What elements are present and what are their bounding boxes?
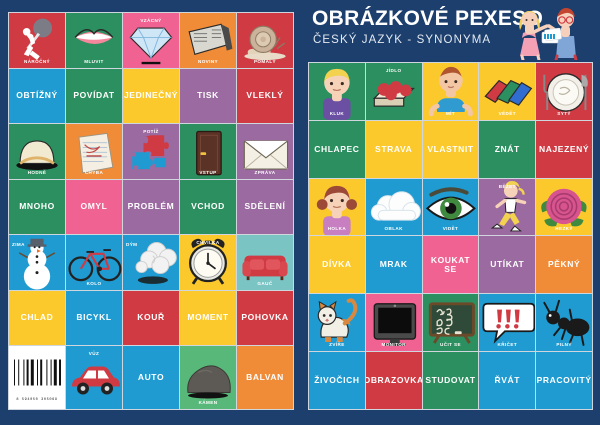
picture-card-label: MLUVIT [66, 59, 122, 64]
word-card[interactable]: OBRAZOVKA [366, 352, 422, 409]
picture-card-label: VIDĚT [423, 226, 479, 231]
picture-card[interactable]: VŮZ [66, 346, 122, 409]
word-card[interactable]: AUTO [123, 346, 179, 409]
picture-card[interactable]: POMALÝ [237, 13, 293, 68]
word-card-label: ZNÁT [493, 145, 522, 154]
picture-card-label: JÍDLO [366, 68, 422, 73]
picture-card[interactable]: BĚŽET [479, 179, 535, 236]
word-card[interactable]: KOUŘ [123, 291, 179, 346]
picture-card[interactable]: KÁMEN [180, 346, 236, 409]
word-card[interactable]: STUDOVAT [423, 352, 479, 409]
picture-card[interactable]: UČIT SE [423, 294, 479, 351]
picture-card[interactable]: VĚDĚT [479, 63, 535, 120]
word-card[interactable]: KOUKAT SE [423, 236, 479, 293]
picture-card-label: KLUK [309, 111, 365, 116]
word-card[interactable]: SDĚLENÍ [237, 180, 293, 235]
pexeso-board-left: NÁROČNÝMLUVITVZÁCNÝNOVINYPOMALÝOBTÍŽNÝPO… [8, 12, 294, 410]
word-card-label: KOUKAT SE [423, 256, 479, 275]
picture-card[interactable]: ZVÍŘE [309, 294, 365, 351]
picture-card[interactable]: VSTUP [180, 124, 236, 179]
picture-card-label: VĚDĚT [479, 111, 535, 116]
pexeso-board-right: KLUKJÍDLOMÍTVĚDĚTSYTÝCHLAPECSTRAVAVLASTN… [308, 62, 593, 410]
picture-card[interactable]: HODNĚ [9, 124, 65, 179]
picture-card-label: HODNĚ [9, 170, 65, 175]
word-card-label: VLEKLÝ [244, 91, 285, 100]
word-card-label: CHLAPEC [312, 145, 361, 154]
word-card[interactable]: OBTÍŽNÝ [9, 69, 65, 124]
word-card[interactable]: MRAK [366, 236, 422, 293]
word-card[interactable]: MNOHO [9, 180, 65, 235]
word-card-label: PRACOVITÝ [536, 376, 592, 385]
picture-card-label: VZÁCNÝ [123, 18, 179, 23]
picture-card-label: HEZKÝ [536, 226, 592, 231]
picture-card[interactable]: DÝM [123, 235, 179, 290]
word-card-label: POVÍDAT [71, 91, 116, 100]
word-card-label: UTÍKAT [488, 260, 526, 269]
picture-card[interactable]: POTÍŽ [123, 124, 179, 179]
picture-card-label: PILNÝ [536, 342, 592, 347]
word-card[interactable]: STRAVA [366, 121, 422, 178]
page-subtitle: ČESKÝ JAZYK - SYNONYMA [313, 34, 491, 46]
word-card-label: AUTO [136, 373, 166, 382]
word-card-label: CHLAD [19, 313, 56, 322]
word-card-label: MOMENT [185, 313, 230, 322]
word-card-label: SDĚLENÍ [242, 202, 287, 211]
poster-header: OBRÁZKOVÉ PEXESO ČESKÝ JAZYK - SYNONYMA [308, 0, 600, 60]
picture-card[interactable]: GAUČ [237, 235, 293, 290]
picture-card[interactable]: KOLO [66, 235, 122, 290]
word-card[interactable]: MOMENT [180, 291, 236, 346]
word-card[interactable]: NAJEZENÝ [536, 121, 592, 178]
word-card[interactable]: ZNÁT [479, 121, 535, 178]
word-card-label: STRAVA [373, 145, 414, 154]
word-card[interactable]: DÍVKA [309, 236, 365, 293]
word-card-label: ŘVÁT [493, 376, 523, 385]
picture-card-label: POTÍŽ [123, 129, 179, 134]
word-card-label: VLASTNIT [425, 145, 475, 154]
word-card[interactable]: BALVAN [237, 346, 293, 409]
word-card[interactable]: VLEKLÝ [237, 69, 293, 124]
poster-page: OBRÁZKOVÉ PEXESO ČESKÝ JAZYK - SYNONYMA [0, 0, 600, 425]
kids-pair-icon [498, 2, 594, 60]
picture-card[interactable]: OBLAK [366, 179, 422, 236]
word-card[interactable]: CHLAPEC [309, 121, 365, 178]
word-card-label: DÍVKA [320, 260, 353, 269]
picture-card-label: ZIMA [12, 242, 25, 247]
picture-card[interactable]: KŘIČET [479, 294, 535, 351]
word-card[interactable]: VCHOD [180, 180, 236, 235]
picture-card[interactable]: CHVILKA [180, 235, 236, 290]
word-card-label: NAJEZENÝ [537, 145, 591, 154]
barcode-icon [13, 359, 61, 390]
picture-card[interactable]: VIDĚT [423, 179, 479, 236]
word-card-label: BICYKL [74, 313, 113, 322]
word-card-label: TISK [195, 91, 221, 100]
picture-card-label: BĚŽET [479, 184, 535, 189]
word-card-label: OBTÍŽNÝ [14, 91, 60, 100]
word-card[interactable]: POHOVKA [237, 291, 293, 346]
word-card-label: VCHOD [189, 202, 227, 211]
picture-card-label: KÁMEN [180, 400, 236, 405]
picture-card[interactable]: VZÁCNÝ [123, 13, 179, 68]
picture-card[interactable]: ZIMA [9, 235, 65, 290]
word-card[interactable]: CHLAD [9, 291, 65, 346]
word-card[interactable]: VLASTNIT [423, 121, 479, 178]
word-card-label: POHOVKA [239, 313, 290, 322]
word-card[interactable]: OMYL [66, 180, 122, 235]
picture-card-label: NÁROČNÝ [9, 59, 65, 64]
word-card[interactable]: TISK [180, 69, 236, 124]
picture-card[interactable]: NÁROČNÝ [9, 13, 65, 68]
word-card-label: PROBLÉM [126, 202, 177, 211]
picture-card[interactable]: PILNÝ [536, 294, 592, 351]
picture-card-label: ZPRÁVA [237, 170, 293, 175]
picture-card-label: CHYBA [66, 170, 122, 175]
picture-card-label: POMALÝ [237, 59, 293, 64]
word-card[interactable]: ŘVÁT [479, 352, 535, 409]
picture-card[interactable]: NOVINY [180, 13, 236, 68]
picture-card-label: DÝM [126, 242, 137, 247]
picture-card[interactable]: CHYBA [66, 124, 122, 179]
picture-card-label: HOLKA [309, 226, 365, 231]
picture-card[interactable]: JÍDLO [366, 63, 422, 120]
word-card[interactable]: PĚKNÝ [536, 236, 592, 293]
picture-card[interactable]: MONITOR [366, 294, 422, 351]
word-card[interactable]: ŽIVOČICH [309, 352, 365, 409]
barcode-cell[interactable]: 8 594050 305069 [9, 346, 65, 409]
word-card[interactable]: BICYKL [66, 291, 122, 346]
picture-card[interactable]: HOLKA [309, 179, 365, 236]
word-card-label: KOUŘ [135, 313, 166, 322]
word-card[interactable]: PROBLÉM [123, 180, 179, 235]
word-card[interactable]: JEDINEČNÝ [123, 69, 179, 124]
picture-card-label: KOLO [66, 281, 122, 286]
word-card-label: ŽIVOČICH [312, 376, 361, 385]
word-card[interactable]: PRACOVITÝ [536, 352, 592, 409]
word-card[interactable]: UTÍKAT [479, 236, 535, 293]
barcode-number: 8 594050 305069 [9, 398, 65, 402]
word-card-label: JEDINEČNÝ [123, 91, 179, 100]
word-card-label: OMYL [79, 202, 110, 211]
word-card-label: BALVAN [244, 373, 286, 382]
picture-card-label: SYTÝ [536, 111, 592, 116]
picture-card-label: KŘIČET [479, 342, 535, 347]
picture-card[interactable]: SYTÝ [536, 63, 592, 120]
picture-card[interactable]: MÍT [423, 63, 479, 120]
picture-card-label: VSTUP [180, 170, 236, 175]
word-card-label: OBRAZOVKA [366, 376, 422, 385]
picture-card-label: UČIT SE [423, 342, 479, 347]
picture-card-label: ZVÍŘE [309, 342, 365, 347]
word-card-label: MNOHO [17, 202, 57, 211]
word-card-label: PĚKNÝ [546, 260, 582, 269]
picture-card-label: GAUČ [237, 281, 293, 286]
picture-card-label: CHVILKA [180, 240, 236, 245]
word-card[interactable]: POVÍDAT [66, 69, 122, 124]
picture-card-label: NOVINY [180, 59, 236, 64]
picture-card-label: OBLAK [366, 226, 422, 231]
word-card-label: MRAK [378, 260, 410, 269]
word-card-label: STUDOVAT [423, 376, 477, 385]
picture-card[interactable]: KLUK [309, 63, 365, 120]
picture-card[interactable]: ZPRÁVA [237, 124, 293, 179]
picture-card-label: MÍT [423, 111, 479, 116]
picture-card[interactable]: MLUVIT [66, 13, 122, 68]
picture-card[interactable]: HEZKÝ [536, 179, 592, 236]
picture-card-label: VŮZ [66, 351, 122, 356]
picture-card-label: MONITOR [366, 342, 422, 347]
